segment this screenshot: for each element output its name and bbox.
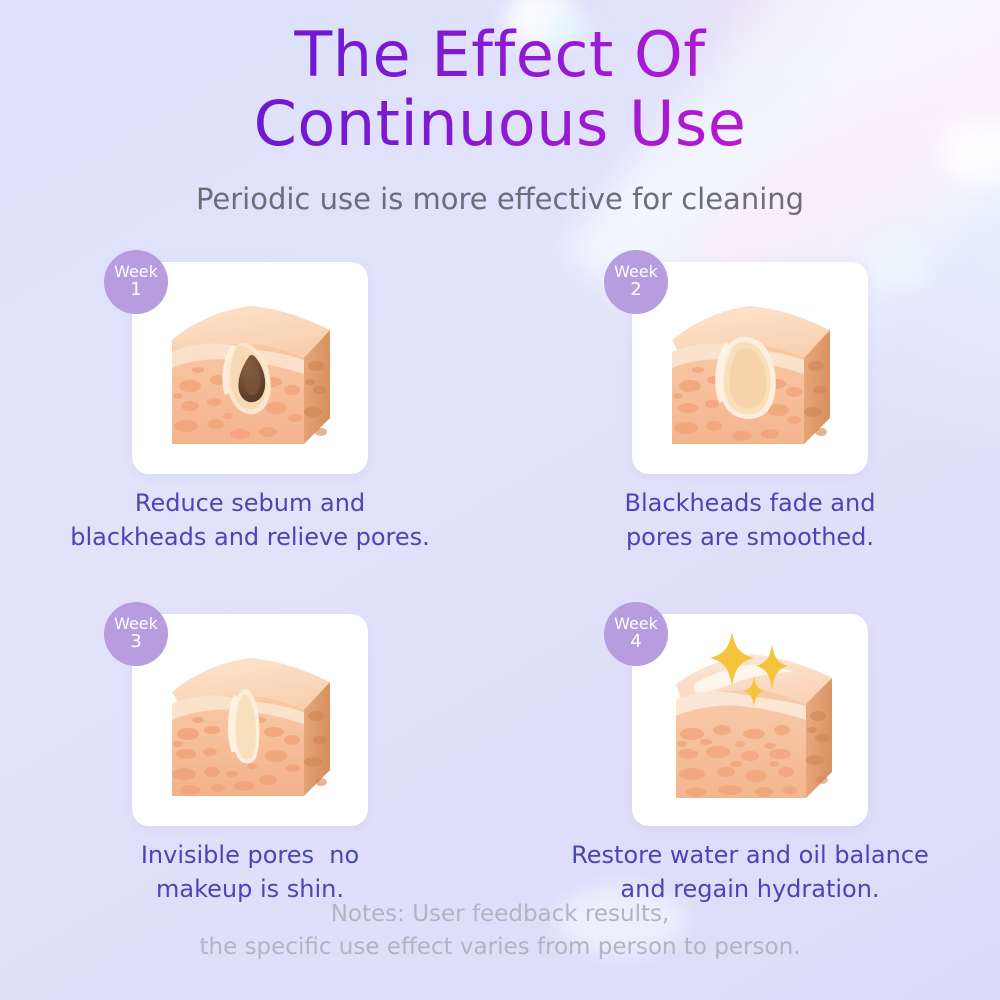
week-card-3-caption: Invisible pores no makeup is shin. — [0, 838, 500, 906]
infographic-page: The Effect Of Continuous Use Periodic us… — [0, 0, 1000, 1000]
skin-block-smooth-sparkle-icon — [632, 614, 868, 826]
week-badge-number: 1 — [130, 281, 141, 300]
caption-line-1: Blackheads fade and — [500, 486, 1000, 520]
week-card-2-caption: Blackheads fade and pores are smoothed. — [500, 486, 1000, 554]
week-badge-2: Week 2 — [604, 250, 668, 314]
week-badge-3: Week 3 — [104, 602, 168, 666]
caption-line-1: Restore water and oil balance — [500, 838, 1000, 872]
week-card-4-media: Week 4 — [632, 614, 868, 826]
week-card-1: Week 1 Reduce sebum and blackheads and r… — [0, 250, 500, 554]
skin-block-narrow-pore-icon — [132, 614, 368, 826]
week-card-2: Week 2 Blackheads fade and pores are smo… — [500, 250, 1000, 554]
skin-block-open-pore-icon — [632, 262, 868, 474]
week-badge-4: Week 4 — [604, 602, 668, 666]
footer-notes-line-2: the specific use effect varies from pers… — [0, 931, 1000, 964]
week-card-4: Week 4 Restore water and oil balance and… — [500, 602, 1000, 906]
caption-line-1: Invisible pores no — [0, 838, 500, 872]
week-card-1-caption: Reduce sebum and blackheads and relieve … — [0, 486, 500, 554]
week-card-3-media: Week 3 — [132, 614, 368, 826]
page-title-line-1: The Effect Of — [0, 20, 1000, 89]
week-card-4-caption: Restore water and oil balance and regain… — [500, 838, 1000, 906]
week-badge-1: Week 1 — [104, 250, 168, 314]
week-card-2-media: Week 2 — [632, 262, 868, 474]
caption-line-2: blackheads and relieve pores. — [0, 520, 500, 554]
week-badge-number: 3 — [130, 633, 141, 652]
week-card-3: Week 3 Invisible pores no makeup is shin… — [0, 602, 500, 906]
footer-notes: Notes: User feedback results, the specif… — [0, 898, 1000, 965]
page-subtitle: Periodic use is more effective for clean… — [0, 182, 1000, 216]
caption-line-1: Reduce sebum and — [0, 486, 500, 520]
skin-block-blackhead-icon — [132, 262, 368, 474]
week-cards-row-1: Week 1 Reduce sebum and blackheads and r… — [0, 250, 1000, 554]
footer-notes-line-1: Notes: User feedback results, — [0, 898, 1000, 931]
week-badge-number: 4 — [630, 633, 641, 652]
week-cards-row-2: Week 3 Invisible pores no makeup is shin… — [0, 602, 1000, 906]
week-cards-grid: Week 1 Reduce sebum and blackheads and r… — [0, 250, 1000, 906]
week-badge-number: 2 — [630, 281, 641, 300]
page-title-line-2: Continuous Use — [0, 89, 1000, 158]
week-card-1-media: Week 1 — [132, 262, 368, 474]
page-title: The Effect Of Continuous Use — [0, 20, 1000, 159]
caption-line-2: pores are smoothed. — [500, 520, 1000, 554]
